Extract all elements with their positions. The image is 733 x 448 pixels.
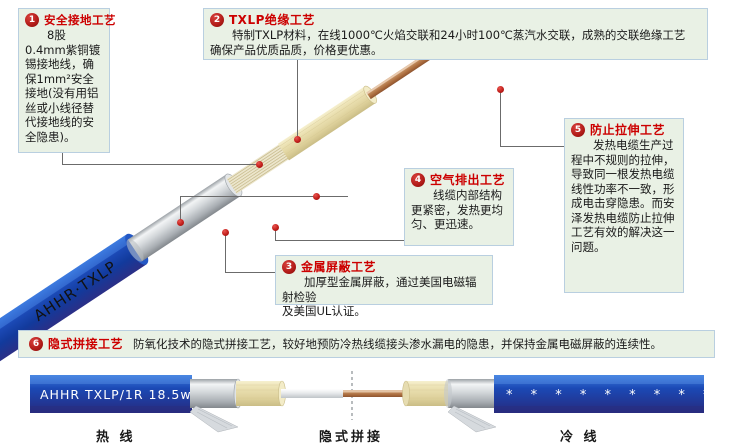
- label-hot-wire: 热 线: [96, 426, 136, 445]
- label-hidden-splice: 隐式拼接: [319, 426, 383, 445]
- cold-cable-marking: * * * * * * * * *: [506, 388, 717, 403]
- bottom-cable-illustration: AHHR TXLP/1R 18.5w/m: [0, 0, 733, 448]
- diagram-canvas: AHHR·TXLP 1 安全接地工艺 8股0.4mm紫铜镀锡接地线，确保1mm²…: [0, 0, 733, 448]
- hot-cable-marking: AHHR TXLP/1R 18.5w/m: [40, 387, 210, 402]
- label-cold-wire: 冷 线: [560, 426, 600, 445]
